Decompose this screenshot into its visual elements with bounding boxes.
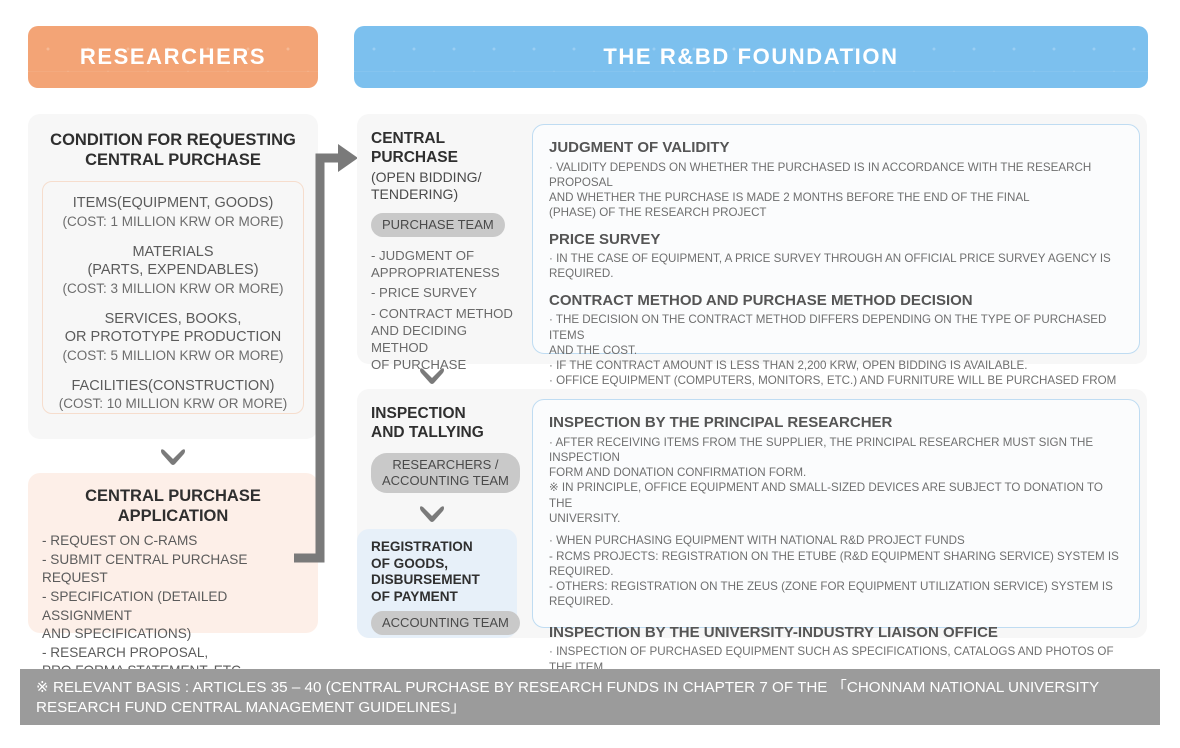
- condition-item-name: FACILITIES(CONSTRUCTION): [49, 377, 297, 395]
- stage-bullet: - JUDGMENT OF APPROPRIATENESS: [371, 247, 527, 281]
- chevron-down-icon: [417, 504, 447, 524]
- footer-text: ※ RELEVANT BASIS : ARTICLES 35 – 40 (CEN…: [36, 678, 1144, 718]
- stage-2-summary: INSPECTION AND TALLYING RESEARCHERS / AC…: [357, 389, 527, 493]
- detail-line: · VALIDITY DEPENDS ON WHETHER THE PURCHA…: [549, 160, 1123, 221]
- stage-bullet: - CONTRACT METHOD AND DECIDING METHOD OF…: [371, 305, 527, 374]
- detail-box-inspection: INSPECTION BY THE PRINCIPAL RESEARCHER ·…: [532, 399, 1140, 628]
- team-badge-purchase-team: PURCHASE TEAM: [371, 213, 505, 237]
- detail-group: PRICE SURVEY · IN THE CASE OF EQUIPMENT,…: [549, 230, 1123, 282]
- chevron-down-icon: [158, 447, 188, 467]
- detail-box-central-purchase: JUDGMENT OF VALIDITY · VALIDITY DEPENDS …: [532, 124, 1140, 354]
- condition-item-name: ITEMS(EQUIPMENT, GOODS): [49, 194, 297, 212]
- detail-line: · WHEN PURCHASING EQUIPMENT WITH NATIONA…: [549, 533, 1123, 609]
- stage-3-summary: REGISTRATION OF GOODS, DISBURSEMENT OF P…: [357, 529, 527, 635]
- detail-heading: CONTRACT METHOD AND PURCHASE METHOD DECI…: [549, 291, 1123, 311]
- detail-line: · THE DECISION ON THE CONTRACT METHOD DI…: [549, 312, 1123, 358]
- application-card-title: CENTRAL PURCHASE APPLICATION: [28, 473, 318, 532]
- condition-item-list: ITEMS(EQUIPMENT, GOODS) (COST: 1 MILLION…: [42, 181, 304, 414]
- detail-line: · IN THE CASE OF EQUIPMENT, A PRICE SURV…: [549, 251, 1123, 282]
- team-badge-researchers-accounting: RESEARCHERS / ACCOUNTING TEAM: [371, 453, 520, 493]
- stage-bullet-list: - JUDGMENT OF APPROPRIATENESS - PRICE SU…: [371, 247, 527, 373]
- stage-title: CENTRAL PURCHASE: [371, 130, 527, 168]
- condition-item-cost: (COST: 3 MILLION KRW OR MORE): [49, 280, 297, 298]
- condition-item: ITEMS(EQUIPMENT, GOODS) (COST: 1 MILLION…: [49, 194, 297, 230]
- infographic-canvas: RESEARCHERS THE R&BD FOUNDATION CONDITIO…: [0, 0, 1180, 748]
- condition-item: MATERIALS (PARTS, EXPENDABLES) (COST: 3 …: [49, 243, 297, 297]
- researchers-header-label: RESEARCHERS: [80, 44, 266, 70]
- application-line-list: - REQUEST ON C-RAMS - SUBMIT CENTRAL PUR…: [28, 532, 318, 680]
- condition-item-name: SERVICES, BOOKS, OR PROTOTYPE PRODUCTION: [49, 310, 297, 347]
- application-line: - SUBMIT CENTRAL PURCHASE REQUEST: [42, 551, 304, 587]
- condition-card-title: CONDITION FOR REQUESTING CENTRAL PURCHAS…: [28, 114, 318, 170]
- detail-line: · IF THE CONTRACT AMOUNT IS LESS THAN 2,…: [549, 358, 1123, 373]
- stage-1-summary: CENTRAL PURCHASE (OPEN BIDDING/ TENDERIN…: [357, 114, 527, 376]
- detail-heading: INSPECTION BY THE UNIVERSITY-INDUSTRY LI…: [549, 623, 1123, 643]
- application-line: - SPECIFICATION (DETAILED ASSIGNMENT AND…: [42, 588, 304, 642]
- team-badge-accounting-team: ACCOUNTING TEAM: [371, 611, 520, 635]
- flow-arrow-icon: [288, 140, 368, 570]
- application-line: - REQUEST ON C-RAMS: [42, 532, 304, 550]
- chevron-down-icon: [417, 366, 447, 386]
- detail-heading: INSPECTION BY THE PRINCIPAL RESEARCHER: [549, 413, 1123, 433]
- condition-item-cost: (COST: 10 MILLION KRW OR MORE): [49, 395, 297, 413]
- column-header-researchers: RESEARCHERS: [28, 26, 318, 88]
- condition-item-cost: (COST: 5 MILLION KRW OR MORE): [49, 347, 297, 365]
- footer-relevant-basis-bar: ※ RELEVANT BASIS : ARTICLES 35 – 40 (CEN…: [20, 669, 1160, 725]
- detail-group: JUDGMENT OF VALIDITY · VALIDITY DEPENDS …: [549, 138, 1123, 221]
- condition-item-cost: (COST: 1 MILLION KRW OR MORE): [49, 213, 297, 231]
- stage-registration-of-goods: REGISTRATION OF GOODS, DISBURSEMENT OF P…: [357, 529, 517, 638]
- foundation-header-label: THE R&BD FOUNDATION: [603, 44, 898, 70]
- stage-title: REGISTRATION OF GOODS, DISBURSEMENT OF P…: [371, 539, 527, 605]
- detail-heading: PRICE SURVEY: [549, 230, 1123, 250]
- stage-subtitle: (OPEN BIDDING/ TENDERING): [371, 169, 527, 203]
- condition-item: FACILITIES(CONSTRUCTION) (COST: 10 MILLI…: [49, 377, 297, 413]
- detail-group: CONTRACT METHOD AND PURCHASE METHOD DECI…: [549, 291, 1123, 404]
- detail-line: · AFTER RECEIVING ITEMS FROM THE SUPPLIE…: [549, 435, 1123, 527]
- stage-bullet: - PRICE SURVEY: [371, 284, 527, 301]
- stage-title: INSPECTION AND TALLYING: [371, 405, 527, 443]
- column-header-foundation: THE R&BD FOUNDATION: [354, 26, 1148, 88]
- card-condition-for-requesting: CONDITION FOR REQUESTING CENTRAL PURCHAS…: [28, 114, 318, 439]
- condition-item-name: MATERIALS (PARTS, EXPENDABLES): [49, 243, 297, 280]
- detail-group: INSPECTION BY THE PRINCIPAL RESEARCHER ·…: [549, 413, 1123, 610]
- card-central-purchase-application: CENTRAL PURCHASE APPLICATION - REQUEST O…: [28, 473, 318, 633]
- detail-heading: JUDGMENT OF VALIDITY: [549, 138, 1123, 158]
- condition-item: SERVICES, BOOKS, OR PROTOTYPE PRODUCTION…: [49, 310, 297, 364]
